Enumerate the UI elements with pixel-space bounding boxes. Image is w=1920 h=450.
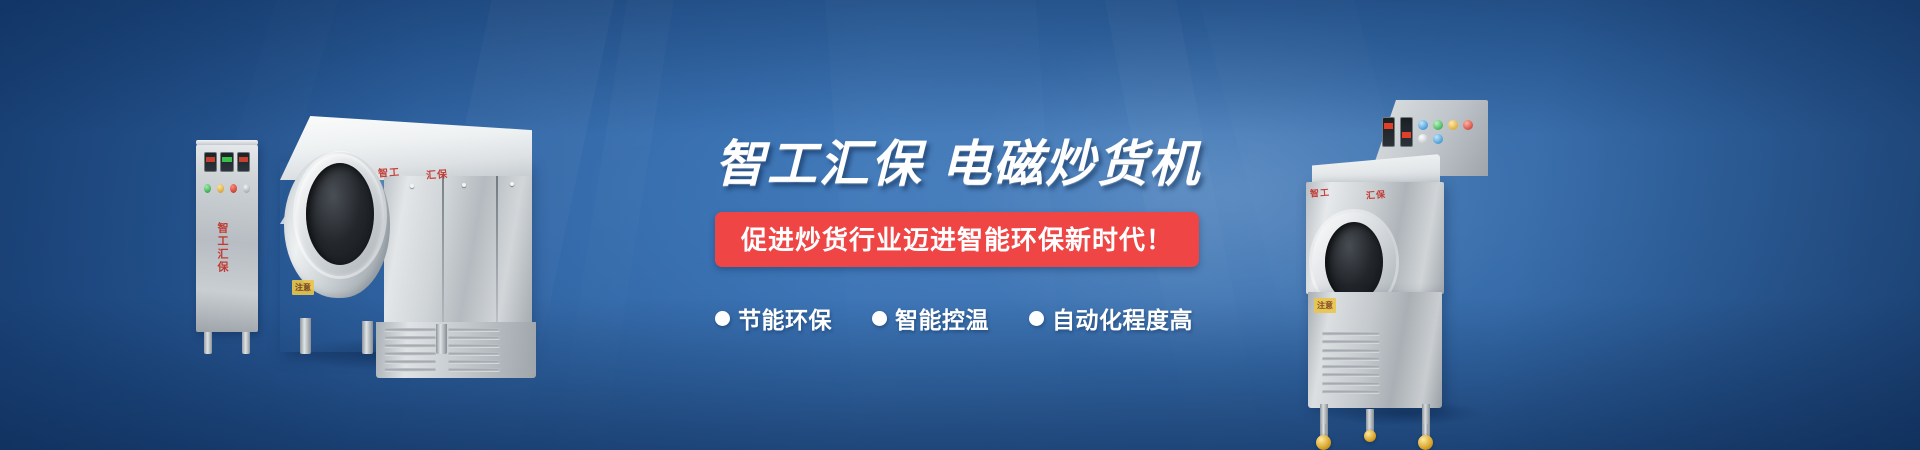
leg [242,332,250,354]
drum-opening [306,163,374,265]
bullet-dot-icon [1029,311,1044,326]
temperature-display [204,152,217,172]
bullet-dot-icon [715,311,730,326]
warning-label: 注意 [1314,298,1336,313]
stop-knob [230,184,237,193]
banner-copy: 智工汇保电磁炒货机 促进炒货行业迈进智能环保新时代！ 节能环保 智能控温 自动化… [715,138,1275,335]
dial-knob [243,184,250,193]
caster-wheel [1364,430,1376,442]
brand-decal-2: 汇保 [1366,187,1387,201]
feature-item-2: 自动化程度高 [1029,301,1193,335]
feature-label: 智能控温 [895,301,989,335]
run-led [1433,120,1443,130]
start-knob [204,184,211,193]
control-tower-top [196,140,258,145]
vent-slat [1322,365,1380,369]
feature-label: 自动化程度高 [1052,301,1193,335]
vent-slat [1322,357,1380,361]
vent-slat [1322,373,1380,377]
vent-slat [384,360,436,364]
mode-knob [217,184,224,193]
machine-lower-body: 注意 [1308,292,1442,408]
product-image-left-machine: 智工汇保 智工 汇保 [196,104,546,352]
heat-led [1448,120,1458,130]
brand-decal-1: 智工 [1310,185,1331,199]
leg [300,318,311,354]
leg [362,321,373,354]
vent-grille [1322,332,1380,394]
control-panel-face [1382,112,1478,152]
bullet-dot-icon [872,311,887,326]
rivet [510,182,514,186]
vent-slat [448,344,500,348]
page-title: 智工汇保电磁炒货机 [715,138,1275,190]
headline-brand: 智工汇保 [715,136,923,192]
cabinet [384,176,532,326]
vent-slat [1322,382,1380,386]
power-display [237,152,250,172]
tower-legs [202,332,252,354]
feature-label: 节能环保 [738,301,832,335]
drum-opening [1325,222,1383,302]
vent-slat [1322,349,1380,353]
standby-led [1418,134,1428,144]
timer-display [1400,117,1413,147]
feature-item-1: 智能控温 [872,301,989,335]
machine-frame [1320,404,1432,438]
subbar-wrapper: 促进炒货行业迈进智能环保新时代！ [715,212,1275,267]
vent-grille [448,328,500,372]
rivet [410,184,414,188]
control-knob-row [204,182,250,194]
gauge-cluster [204,152,250,172]
feature-item-0: 节能环保 [715,301,832,335]
brand-decal-2: 汇保 [426,165,449,181]
vent-slat [1322,340,1380,344]
vent-slat [448,360,500,364]
indicator-led-group [1418,120,1476,144]
promo-banner: 智工汇保 智工 汇保 [0,0,1920,450]
brand-decal-vertical: 智工汇保 [214,222,230,274]
drum-housing [284,152,390,298]
panel-seam [496,176,498,326]
leg [204,332,212,354]
warning-label: 注意 [292,280,314,295]
timer-display [220,152,233,172]
caster-wheel [1418,435,1433,450]
leg [436,324,447,354]
vent-slat [448,328,500,332]
rivet [462,183,466,187]
vent-slat [448,336,500,340]
caster-wheel [1316,435,1331,450]
brand-decal-1: 智工 [378,163,401,179]
vent-slat [448,352,500,356]
panel-seam [442,176,444,326]
headline-product: 电磁炒货机 [941,136,1201,192]
auto-led [1433,134,1443,144]
machine-upper-body: 智工 汇保 [1306,182,1444,294]
alarm-led [1463,120,1473,130]
product-image-right-machine: 智工 汇保 注意 [1286,100,1516,360]
tagline-badge: 促进炒货行业迈进智能环保新时代！ [715,212,1199,267]
temperature-display [1382,117,1395,147]
machine-legs [300,318,450,354]
vent-slat [448,368,500,372]
power-led [1418,120,1428,130]
feature-list: 节能环保 智能控温 自动化程度高 [715,301,1275,335]
vent-slat [1322,390,1380,394]
vent-slat [384,368,436,372]
vent-slat [1322,332,1380,336]
